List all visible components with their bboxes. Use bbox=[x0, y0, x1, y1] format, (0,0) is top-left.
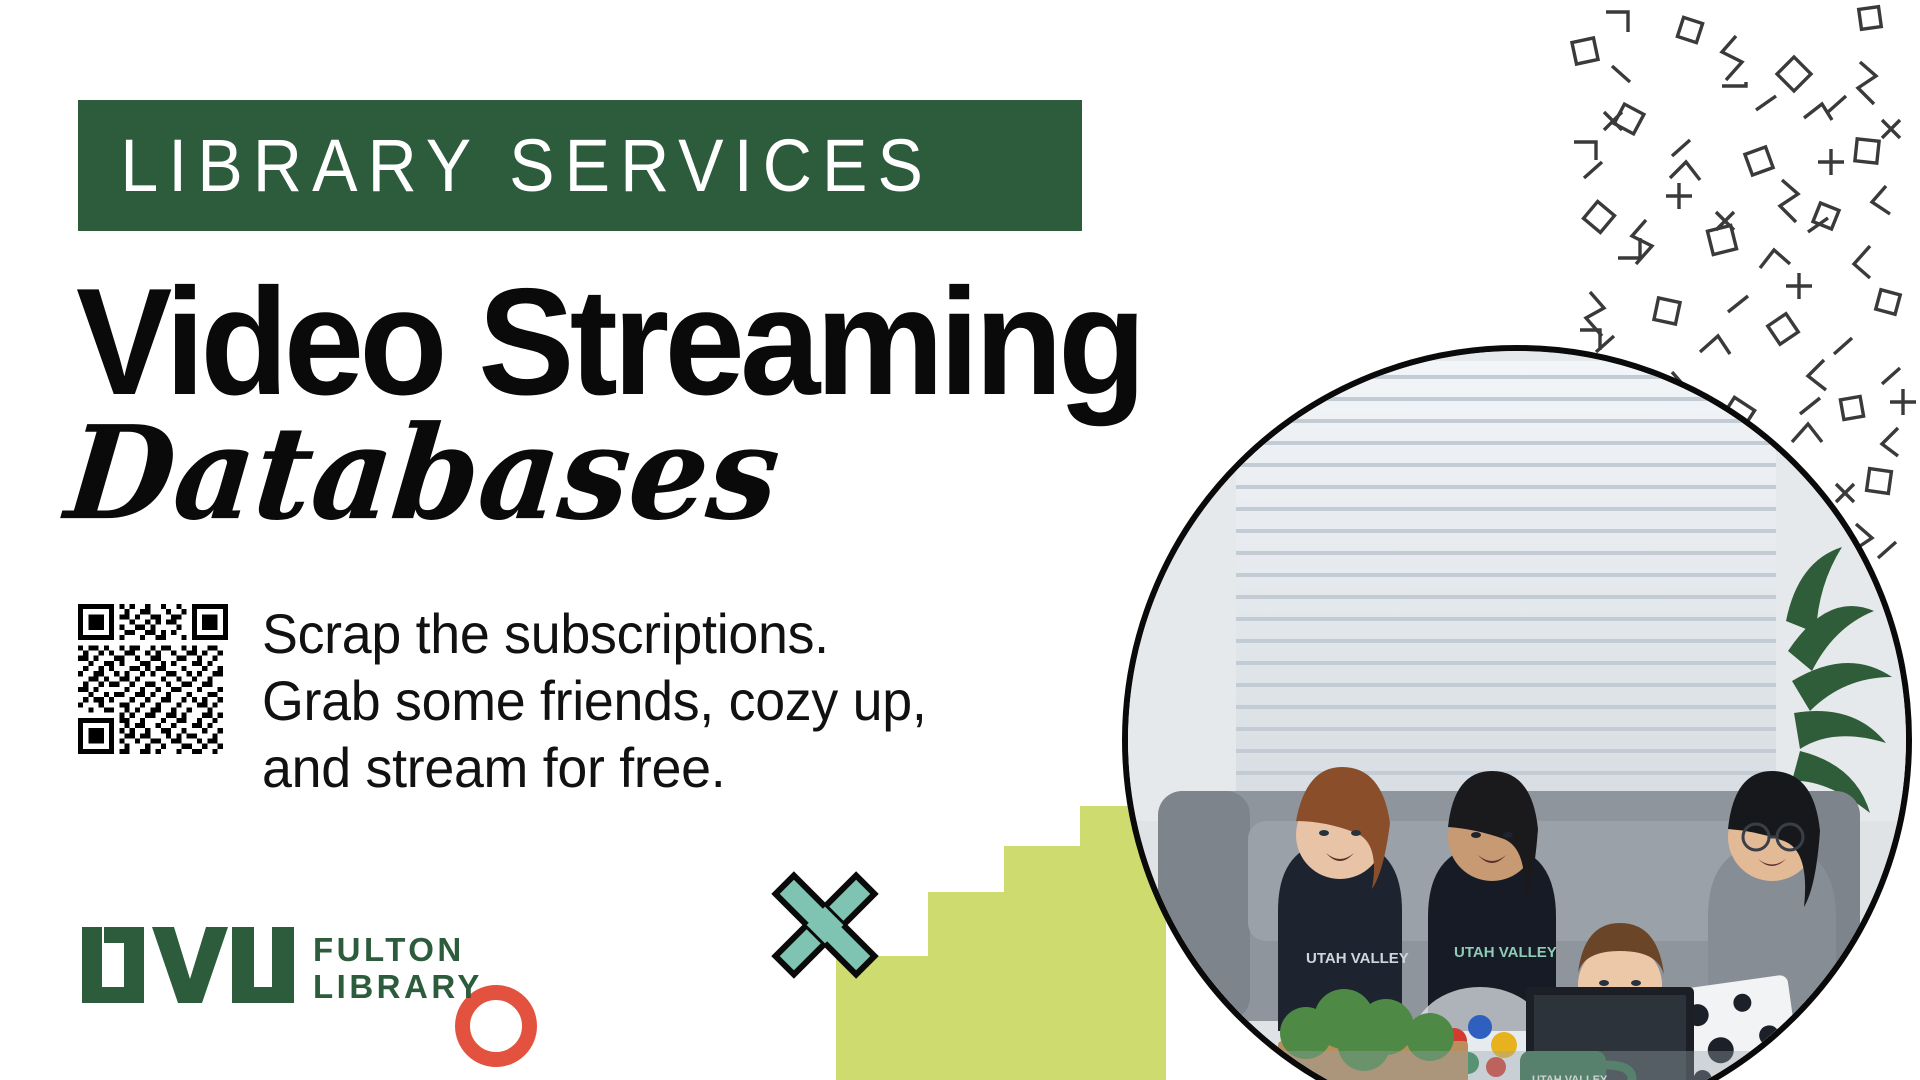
logo-line-fulton: FULTON bbox=[313, 933, 483, 966]
body-paragraph: Scrap the subscriptions. Grab some frien… bbox=[262, 600, 953, 802]
page-title: Video Streaming bbox=[76, 270, 1142, 414]
qr-code-icon[interactable] bbox=[78, 604, 228, 754]
logo-line-library: LIBRARY bbox=[313, 970, 483, 1003]
poster-canvas: LIBRARY SERVICES Video Streaming Databas… bbox=[0, 0, 1920, 1080]
page-subtitle-script: Databases bbox=[61, 410, 785, 539]
svg-text:™: ™ bbox=[280, 996, 291, 1007]
svg-text:UTAH VALLEY: UTAH VALLEY bbox=[1454, 944, 1557, 961]
x-mark-icon bbox=[762, 862, 888, 988]
uvu-fulton-library-logo[interactable]: ™ FULTON LIBRARY bbox=[80, 925, 483, 1007]
svg-text:UTAH VALLEY: UTAH VALLEY bbox=[1306, 950, 1409, 967]
uvu-wordmark-icon: ™ bbox=[80, 925, 295, 1007]
library-services-banner: LIBRARY SERVICES bbox=[78, 100, 1082, 231]
logo-wordmark-text: FULTON LIBRARY bbox=[313, 933, 483, 1007]
banner-label: LIBRARY SERVICES bbox=[78, 129, 933, 203]
